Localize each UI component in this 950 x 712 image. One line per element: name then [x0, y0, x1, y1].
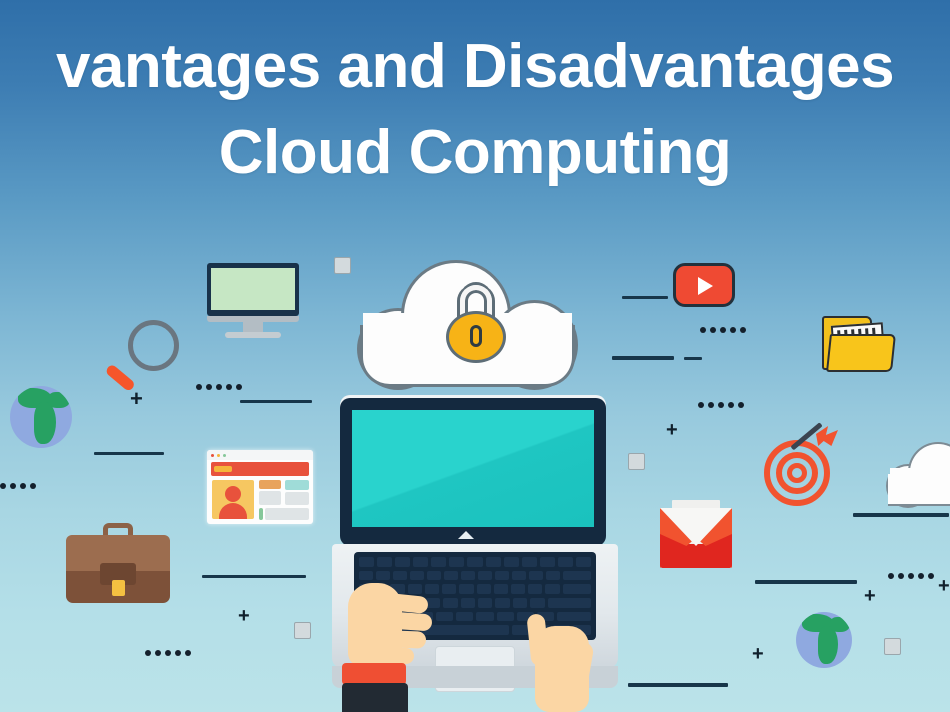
decor-plus-icon: + [938, 576, 950, 596]
decor-square [294, 622, 311, 639]
decor-plus-icon: + [752, 644, 764, 664]
magnifier-ring [128, 320, 179, 371]
folder-front [826, 334, 896, 372]
small-cloud-icon [888, 444, 950, 504]
globe-icon [10, 386, 72, 448]
email-envelope-icon [660, 500, 732, 568]
desktop-monitor-icon [207, 263, 299, 338]
globe-icon [796, 612, 852, 668]
target-ring-inner [787, 463, 807, 483]
decor-dots [888, 573, 934, 579]
briefcase-clasp [112, 580, 125, 596]
decor-dash [628, 683, 728, 687]
sleeve-cuff [342, 663, 406, 685]
title-line-1: vantages and Disadvantages [0, 36, 950, 98]
hand-index-finger [526, 613, 549, 667]
hand-finger [389, 612, 432, 632]
title-line-2: Cloud Computing [0, 122, 950, 184]
decor-dash [755, 580, 857, 584]
browser-content-block [259, 480, 281, 489]
browser-dot [223, 454, 226, 457]
browser-content-block [285, 480, 309, 490]
globe-landmass [34, 402, 56, 444]
cloud-inner-fill [890, 468, 950, 480]
browser-content-block [265, 508, 309, 520]
right-hand [505, 608, 605, 712]
globe-landmass [48, 392, 70, 408]
decor-dash [622, 296, 668, 299]
decor-dash [94, 452, 164, 455]
decor-plus-icon: + [238, 606, 250, 626]
left-hand [342, 575, 447, 712]
decor-dots [145, 650, 191, 656]
globe-landmass [830, 617, 850, 632]
briefcase-icon [66, 523, 170, 603]
decor-dash [202, 575, 306, 578]
decor-plus-icon: + [864, 586, 876, 606]
decor-plus-icon: + [666, 420, 678, 440]
page-title: vantages and Disadvantages Cloud Computi… [0, 0, 950, 184]
browser-content-block [285, 492, 309, 505]
magnifier-handle [104, 363, 136, 392]
laptop-lid [340, 398, 606, 546]
folder-icon [822, 316, 894, 374]
dart-fletching [816, 426, 838, 446]
laptop-logo-icon [458, 531, 474, 539]
padlock-keyhole [470, 325, 482, 347]
decor-dash [612, 356, 674, 360]
keyboard-row [359, 557, 591, 567]
padlock-icon [446, 285, 506, 363]
decor-dash [684, 357, 702, 360]
video-play-button-icon [673, 263, 735, 307]
decor-dots [700, 327, 746, 333]
decor-square [628, 453, 645, 470]
decor-dots [0, 483, 36, 489]
monitor-screen [211, 268, 295, 310]
browser-dot [217, 454, 220, 457]
play-triangle-icon [698, 277, 713, 295]
hand-finger [384, 648, 414, 664]
avatar-head [225, 486, 241, 502]
monitor-foot [225, 332, 281, 338]
browser-window-icon [207, 450, 313, 524]
laptop-screen [352, 410, 594, 527]
decor-dash [853, 513, 949, 517]
browser-header-button [214, 466, 232, 472]
decor-square [884, 638, 901, 655]
illustration-canvas: vantages and Disadvantages Cloud Computi… [0, 0, 950, 712]
browser-avatar [212, 480, 254, 519]
avatar-body [219, 503, 247, 519]
target-dart-icon [764, 428, 842, 506]
hand-finger [388, 630, 427, 648]
decor-square [334, 257, 351, 274]
decor-dots [196, 384, 242, 390]
decor-dash [240, 400, 312, 403]
browser-dot [211, 454, 214, 457]
decor-dots [698, 402, 744, 408]
sleeve [342, 683, 408, 712]
browser-content-block [259, 491, 281, 505]
cloud-with-lock-icon [360, 263, 575, 388]
magnifying-glass-icon [108, 320, 180, 392]
browser-content-block [259, 508, 263, 520]
